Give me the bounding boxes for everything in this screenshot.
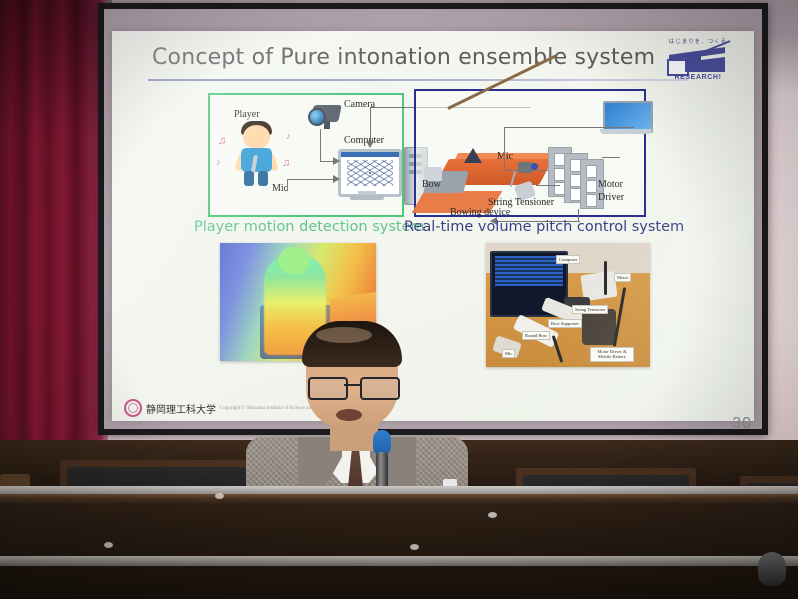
photo-callout-mic: Mic: [502, 349, 515, 358]
player-illustration: [234, 119, 280, 187]
arrow-head: [366, 141, 374, 148]
presenter-mouth: [336, 409, 362, 421]
laptop-illustration: [600, 101, 652, 139]
label-motor-driver: Motor Driver: [598, 179, 640, 204]
photo-callout-string-tensioner: String Tensioner: [572, 305, 608, 314]
photo-callout-computer: Computer: [556, 255, 580, 264]
slide-number: 30: [732, 415, 752, 433]
research-logo: はじまりを、つくる RESEARCH!: [660, 37, 736, 81]
slide-title: Concept of Pure intonation ensemble syst…: [152, 45, 655, 70]
mic-illustration: [518, 162, 532, 173]
computer-monitor-illustration: [338, 149, 400, 201]
arrow-seg: [504, 127, 505, 171]
arrow-seg: [287, 179, 288, 191]
arrow-seg: [320, 129, 321, 162]
curtain-shadow: [0, 0, 112, 462]
label-bowing-device: Bowing device: [450, 207, 510, 218]
music-note-icon: ♫: [218, 135, 226, 147]
photo-callout-motor-driver-battery: Motor Driver & Mobile Battery: [590, 347, 634, 362]
presenter-glasses: [308, 377, 398, 396]
label-bow: Bow: [422, 179, 441, 190]
research-building-icon: [665, 47, 731, 73]
desk-front-panel: [0, 494, 798, 599]
arrow-head: [333, 157, 340, 165]
mic-tip: [531, 163, 538, 170]
music-note-icon: ♫: [282, 157, 290, 169]
photo-callout-motor: Motor: [614, 273, 631, 282]
desk-lower-rail: [0, 556, 798, 566]
music-note-icon: ♪: [286, 131, 291, 141]
left-system-caption: Player motion detection system: [194, 219, 425, 235]
presenter-hair: [302, 321, 402, 367]
instrument-bridge: [464, 148, 482, 163]
university-name: 静岡理工科大学: [146, 401, 216, 416]
desk-knob: [104, 542, 113, 548]
arrow-mic-to-computer: [287, 179, 335, 180]
desk-knob: [488, 512, 497, 518]
arrow-tensioner-to-driver: [536, 185, 560, 186]
sist-mark-icon: [124, 399, 142, 417]
music-note-icon: ♪: [216, 157, 221, 167]
photo-callout-round-bow: Round Bow: [522, 331, 550, 340]
arrow-driver-to-laptop: [602, 157, 620, 158]
presentation-room-photo: Concept of Pure intonation ensemble syst…: [0, 0, 798, 599]
camera-illustration: [308, 103, 348, 129]
hardware-setup-photo: Computer Motor String Tensioner Bow Supp…: [486, 243, 650, 367]
arrow-to-laptop: [504, 127, 634, 128]
computer-mouse[interactable]: [758, 552, 786, 586]
arrow-mic-to-driver: [504, 170, 548, 171]
label-computer: Computer: [344, 135, 384, 146]
right-system-caption: Real-time volume pitch control system: [404, 219, 684, 235]
arrow-seg: [370, 107, 371, 143]
desk-knob: [215, 493, 224, 499]
photo-callout-bow-supporter: Bow Supporter: [548, 319, 582, 328]
title-underline: [148, 79, 688, 81]
desk-knob: [410, 544, 419, 550]
arrow-head: [333, 175, 340, 183]
